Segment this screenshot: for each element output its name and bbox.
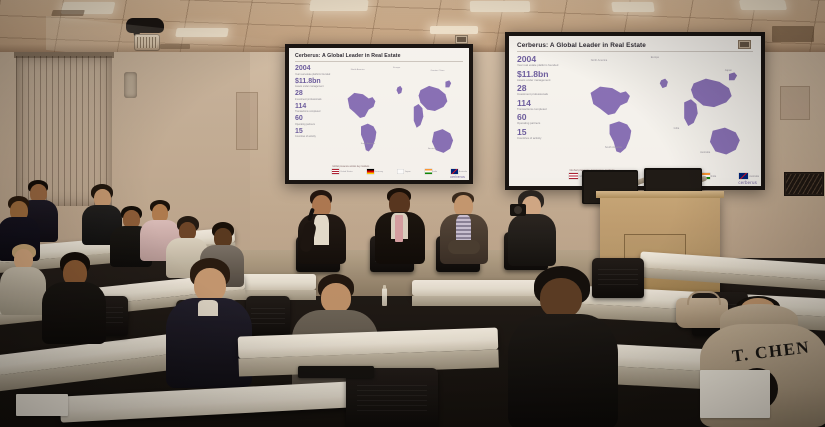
slide-stat-number: $11.8bn — [517, 70, 574, 79]
audience-member-foreground — [508, 266, 618, 427]
world-map-svg — [577, 55, 753, 175]
left-screen-control-tab[interactable] — [455, 35, 468, 44]
slide-stat: 2004 Year real estate platform founded — [295, 65, 335, 76]
slide-stat-number: 2004 — [517, 55, 574, 64]
camera-lens-icon — [514, 206, 522, 214]
slide-divider — [295, 61, 463, 62]
light-top — [0, 267, 46, 315]
right-screen-surface: Cerberus: A Global Leader in Real Estate… — [509, 36, 761, 186]
map-note: North America — [351, 69, 365, 71]
slide-stat: $11.8bn Assets under management — [295, 78, 335, 89]
slide-body: 2004 Year real estate platform founded $… — [517, 55, 753, 175]
ceiling-light — [309, 0, 368, 11]
india-flag-icon — [425, 169, 432, 174]
flag-label: India — [433, 171, 438, 173]
slide-stat-number: 15 — [295, 128, 335, 135]
head — [540, 278, 582, 318]
ceiling-vent — [51, 10, 85, 16]
flag-label: India — [711, 175, 716, 178]
slide-stat-label: Transactions completed — [517, 108, 574, 111]
closed-laptop[interactable] — [298, 366, 374, 378]
arm — [448, 240, 480, 254]
wall-panel — [780, 86, 810, 120]
projector-body — [126, 18, 164, 33]
water-bottle — [382, 288, 387, 306]
audience-chair[interactable] — [246, 296, 290, 338]
slide-stat-number: 2004 — [295, 65, 335, 72]
slide-title: Cerberus: A Global Leader in Real Estate — [517, 42, 753, 49]
slide-stat-label: Transactions completed — [295, 110, 335, 113]
map-note: North America — [591, 59, 607, 62]
audience-member — [42, 252, 106, 344]
map-note: Europe — [651, 56, 659, 59]
slide-right: Cerberus: A Global Leader in Real Estate… — [509, 36, 761, 186]
lecture-hall-photo: Cerberus: A Global Leader in Real Estate… — [0, 0, 825, 427]
right-projection-screen: Cerberus: A Global Leader in Real Estate… — [505, 32, 765, 190]
wall-monitor-dark — [784, 172, 824, 196]
map-shape-north-america — [348, 93, 376, 118]
slide-stat: 2004 Year real estate platform founded — [517, 55, 574, 68]
map-shape-south-america — [361, 124, 376, 152]
flag-label: Germany — [375, 171, 384, 173]
map-shape-japan — [729, 72, 737, 80]
slide-stat: $11.8bn Assets under management — [517, 70, 574, 83]
slide-stat-number: 114 — [517, 99, 574, 108]
left-projection-screen: Cerberus: A Global Leader in Real Estate… — [285, 44, 473, 184]
slide-world-map: North America Europe Greater China South… — [338, 65, 463, 171]
slide-stat: 114 Transactions completed — [517, 99, 574, 112]
map-shape-japan — [446, 80, 452, 87]
slide-title: Cerberus: A Global Leader in Real Estate — [295, 53, 463, 59]
slide-left: Cerberus: A Global Leader in Real Estate… — [289, 48, 469, 180]
map-note: India — [674, 127, 680, 130]
slide-flag-row: Global presence across key markets Unite… — [332, 166, 467, 178]
map-note: South America — [605, 146, 622, 149]
paper-handout — [700, 370, 770, 418]
map-shape-europe — [397, 86, 403, 94]
panelist-4 — [506, 190, 558, 276]
slide-world-map: North America Europe Japan India South A… — [577, 55, 753, 175]
left-screen-surface: Cerberus: A Global Leader in Real Estate… — [289, 48, 469, 180]
slide-stat: 15 Countries of activity — [517, 128, 574, 141]
slide-stat-label: Operating partners — [517, 122, 574, 125]
ceiling-light — [611, 2, 654, 12]
paper-handout — [16, 394, 68, 416]
germany-flag-icon — [367, 169, 374, 174]
ceiling-light — [739, 0, 787, 10]
flag-item: Australia — [739, 173, 759, 179]
wall-panel — [236, 92, 258, 150]
audience-member — [0, 244, 46, 314]
cerberus-logo: cerberus — [450, 175, 465, 179]
dark-jacket — [508, 314, 618, 427]
map-note: Australia — [700, 151, 710, 154]
map-note: Japan — [725, 69, 732, 72]
map-shape-india — [684, 99, 698, 126]
slide-stat-label: Investment professionals — [295, 98, 335, 101]
panelist-3 — [438, 192, 492, 276]
slide-stat-number: 28 — [517, 84, 574, 93]
collar — [198, 300, 218, 316]
map-shape-north-america — [590, 87, 629, 115]
map-shape-china — [691, 79, 732, 107]
slide-stat-number: 60 — [517, 113, 574, 122]
flag-label: United States — [340, 171, 352, 173]
slide-stat: 114 Transactions completed — [295, 103, 335, 114]
flag-item: Australia — [451, 169, 467, 174]
slide-stat-number: 60 — [295, 115, 335, 122]
dress-shirt — [314, 215, 329, 245]
right-screen-control-tab[interactable] — [738, 40, 751, 49]
ceiling-light — [175, 28, 229, 37]
slide-stat: 60 Operating partners — [517, 113, 574, 126]
slide-stats-column: 2004 Year real estate platform founded $… — [517, 55, 577, 175]
necktie — [395, 215, 403, 242]
world-map-svg — [338, 65, 463, 171]
map-note: Australia — [428, 148, 437, 150]
panelist-2 — [374, 188, 428, 276]
flag-label: Australia — [749, 175, 759, 178]
slide-stat-number: 15 — [517, 128, 574, 137]
wall-speaker — [124, 72, 137, 98]
ceiling-light — [430, 26, 478, 34]
striped-shirt — [456, 215, 471, 243]
map-note: Greater China — [431, 70, 445, 72]
flag-list: United States Germany Japan India — [332, 169, 467, 174]
flag-item: India — [425, 169, 438, 174]
slide-stat: 15 Countries of activity — [295, 128, 335, 139]
slide-stat-label: Investment professionals — [517, 93, 574, 96]
slide-stat-number: 114 — [295, 103, 335, 110]
slide-stat-label: Assets under management — [295, 85, 335, 88]
slide-stat-label: Assets under management — [517, 79, 574, 82]
slide-stat-label: Countries of activity — [517, 137, 574, 140]
slide-stat-label: Year real estate platform founded — [295, 73, 335, 76]
dark-shirt — [42, 282, 106, 344]
us-flag-icon — [332, 169, 339, 174]
australia-flag-icon — [451, 169, 458, 174]
slide-stats-column: 2004 Year real estate platform founded $… — [295, 65, 338, 171]
map-note: Europe — [393, 67, 400, 69]
flag-label: Japan — [405, 171, 411, 173]
flag-item: Japan — [397, 169, 411, 174]
cerberus-logo: cerberus — [738, 180, 757, 185]
flag-row-title: Global presence across key markets — [332, 166, 467, 168]
slide-stat-number: 28 — [295, 90, 335, 97]
flag-item: United States — [332, 169, 352, 174]
head — [321, 283, 351, 313]
flag-item: Germany — [367, 169, 384, 174]
slide-body: 2004 Year real estate platform founded $… — [295, 65, 463, 171]
slide-stat: 60 Operating partners — [295, 115, 335, 126]
slide-stat-number: $11.8bn — [295, 78, 335, 85]
us-flag-icon — [569, 173, 578, 179]
slide-divider — [517, 51, 753, 52]
dark-top — [508, 214, 556, 266]
map-shape-china — [419, 86, 448, 111]
head — [194, 268, 226, 302]
australia-flag-icon — [739, 173, 748, 179]
map-shape-europe — [659, 79, 667, 88]
ceiling-light — [470, 1, 530, 12]
podium-surface — [596, 191, 724, 198]
slide-stat-label: Year real estate platform founded — [517, 64, 574, 67]
slide-stat-label: Countries of activity — [295, 135, 335, 138]
slide-stat-label: Operating partners — [295, 123, 335, 126]
japan-flag-icon — [397, 169, 404, 174]
panelist-1 — [296, 190, 350, 276]
ceiling-vent — [772, 26, 814, 42]
slide-stat: 28 Investment professionals — [295, 90, 335, 101]
slide-stat: 28 Investment professionals — [517, 84, 574, 97]
map-shape-australia — [710, 128, 740, 155]
map-shape-india — [414, 104, 424, 128]
flag-label: Australia — [459, 171, 467, 173]
map-note: South America — [361, 143, 375, 145]
